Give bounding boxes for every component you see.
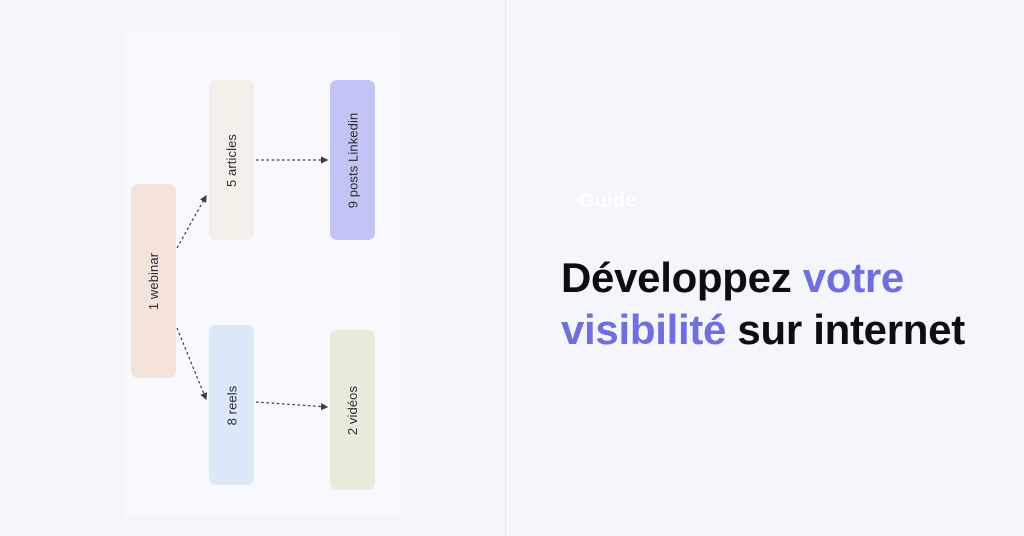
diagram-node-webinar[interactable]: 1 webinar bbox=[131, 184, 176, 378]
diagram-node-videos-label: 2 vidéos bbox=[345, 385, 360, 434]
diagram-node-linkedin-label: 9 posts Linkedin bbox=[345, 112, 360, 208]
diagram-node-reels[interactable]: 8 reels bbox=[209, 325, 254, 485]
category-badge: Guide bbox=[561, 181, 655, 222]
diagram-pane: 1 webinar 5 articles 9 posts Linkedin 8 … bbox=[0, 0, 505, 536]
diagram-node-articles[interactable]: 5 articles bbox=[209, 80, 254, 240]
promo-banner: 1 webinar 5 articles 9 posts Linkedin 8 … bbox=[0, 0, 1024, 536]
page-title: Développez votre visibilité sur internet bbox=[561, 252, 981, 354]
headline-segment-3: visibilité bbox=[561, 306, 726, 353]
headline-segment-1: Développez bbox=[561, 254, 803, 301]
edge-webinar-to-reels bbox=[177, 328, 206, 399]
diagram-node-articles-label: 5 articles bbox=[224, 133, 239, 186]
headline-segment-4: sur bbox=[726, 306, 802, 353]
diagram-node-videos[interactable]: 2 vidéos bbox=[330, 330, 375, 490]
headline-segment-2: votre bbox=[803, 254, 904, 301]
copy-pane: Guide Développez votre visibilité sur in… bbox=[505, 0, 1024, 536]
diagram-node-linkedin[interactable]: 9 posts Linkedin bbox=[330, 80, 375, 240]
edge-reels-to-videos bbox=[256, 402, 327, 407]
edge-webinar-to-articles bbox=[177, 196, 206, 248]
headline-segment-5: internet bbox=[813, 306, 965, 353]
diagram-node-webinar-label: 1 webinar bbox=[146, 252, 161, 309]
diagram-node-reels-label: 8 reels bbox=[224, 385, 239, 425]
